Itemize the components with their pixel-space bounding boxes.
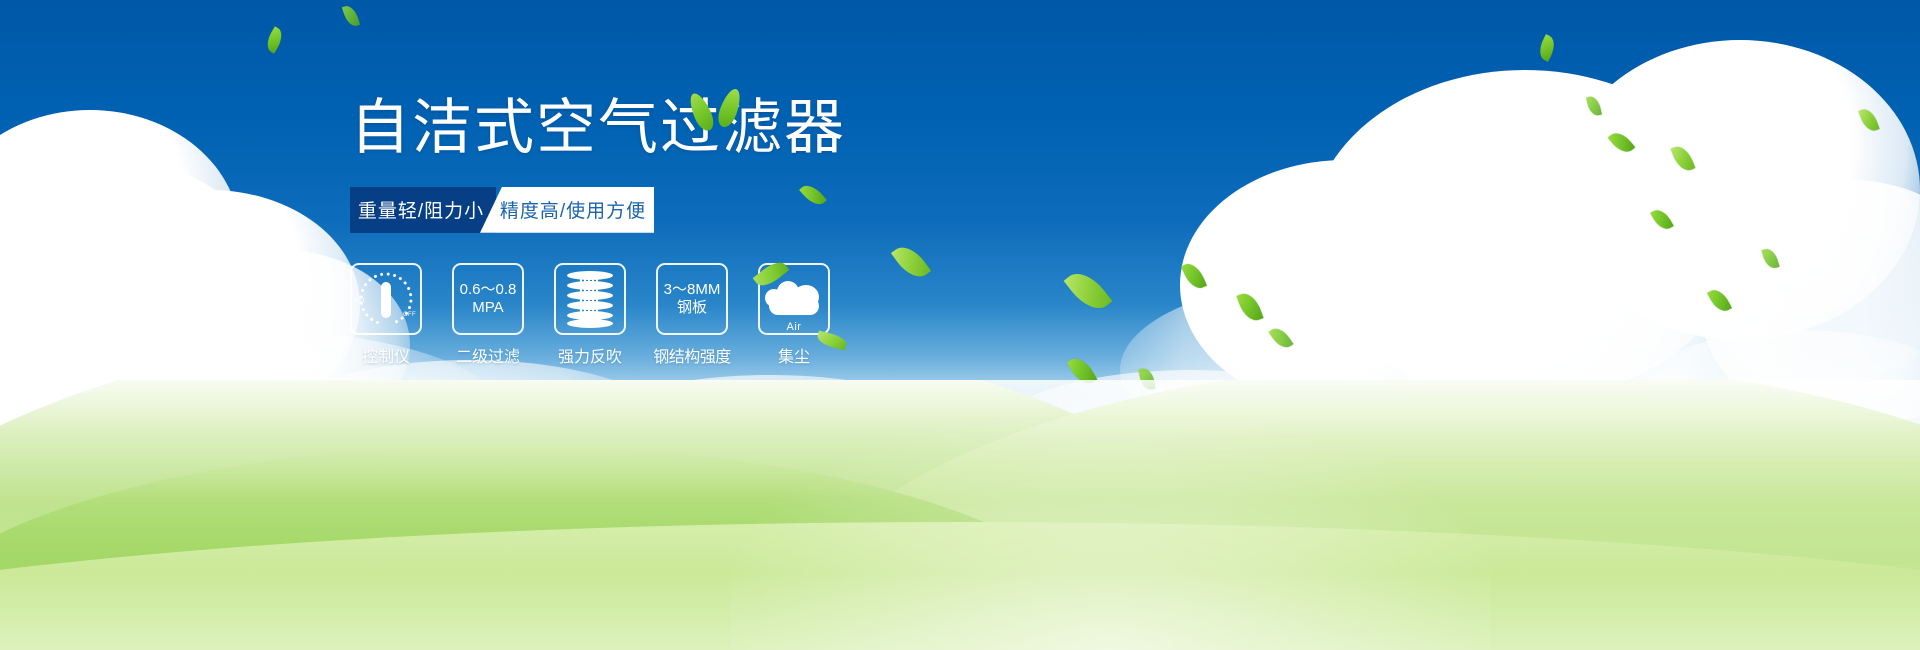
feature-caption: 强力反吹 (558, 343, 622, 367)
feature-caption: 控制仪 (362, 343, 410, 367)
filter-cartridge-icon (567, 271, 613, 327)
feature-icon-box (554, 263, 626, 335)
feature-caption: 集尘 (778, 343, 810, 367)
feature-dust-collection[interactable]: Air 集尘 (758, 263, 830, 367)
leaf (1064, 265, 1113, 317)
air-label: Air (763, 321, 825, 333)
tab-weight-resistance[interactable]: 重量轻/阻力小 (350, 187, 496, 233)
product-banner: 自洁式空气过滤器 重量轻/阻力小 精度高/使用方便 NO OFF (0, 0, 1920, 650)
leaf-icon (816, 330, 848, 350)
feature-icon-box: 0.6～0.8 MPA (452, 263, 524, 335)
air-cloud-icon: Air (763, 275, 825, 323)
feature-controller[interactable]: NO OFF (350, 263, 422, 367)
feature-tabs: 重量轻/阻力小 精度高/使用方便 (350, 187, 670, 233)
leaf (1535, 34, 1558, 62)
leaf-icon (715, 86, 745, 129)
feature-icon-row: NO OFF (350, 263, 870, 367)
feature-icon-box: 3～8MM 钢板 (656, 263, 728, 335)
leaf (263, 26, 286, 53)
feature-two-stage-filter[interactable]: 0.6～0.8 MPA 二级过滤 (452, 263, 524, 367)
steel-plate-value-icon: 3～8MM 钢板 (664, 281, 721, 318)
tab-precision-convenience[interactable]: 精度高/使用方便 (480, 187, 654, 233)
gauge-icon: NO OFF (357, 272, 415, 326)
leaf-icon (686, 90, 718, 133)
title-leaf-decoration (691, 86, 751, 132)
pressure-value-icon: 0.6～0.8 MPA (460, 281, 517, 318)
feature-strong-blowback[interactable]: 强力反吹 (554, 263, 626, 367)
feature-steel-strength[interactable]: 3～8MM 钢板 钢结构强度 (656, 263, 728, 367)
feature-icon-box: NO OFF (350, 263, 422, 335)
feature-icon-box: Air (758, 263, 830, 335)
leaf (891, 240, 931, 284)
banner-content: 自洁式空气过滤器 重量轻/阻力小 精度高/使用方便 NO OFF (350, 96, 870, 367)
page-title: 自洁式空气过滤器 (350, 96, 870, 161)
gauge-needle (381, 282, 391, 318)
grass-ground (0, 380, 1920, 650)
feature-caption: 钢结构强度 (653, 343, 731, 367)
leaf (342, 4, 360, 29)
ground-glow (730, 420, 1490, 650)
feature-caption: 二级过滤 (456, 343, 520, 367)
